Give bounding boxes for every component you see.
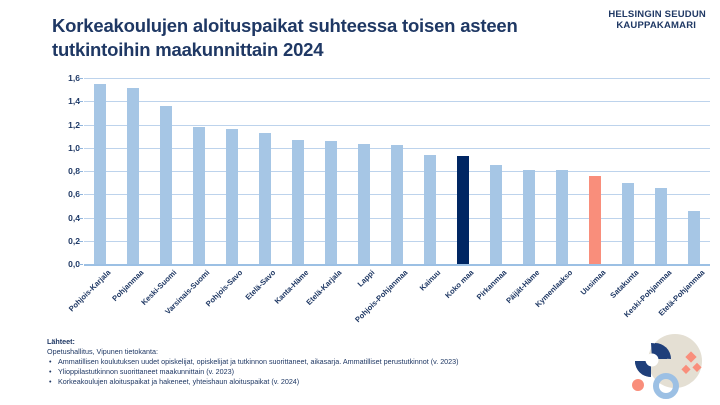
bar-keski-suomi[interactable]	[160, 106, 172, 264]
x-axis-label: Satakunta	[608, 268, 640, 300]
bar-koko-maa[interactable]	[457, 156, 469, 264]
bar-pohjanmaa[interactable]	[127, 88, 139, 264]
bar-kainuu[interactable]	[424, 155, 436, 264]
y-tick-mark	[78, 241, 83, 242]
bar-slot	[677, 78, 710, 264]
x-axis-label: Lappi	[356, 268, 377, 289]
bar-series	[84, 78, 710, 264]
y-tick-label: 0,0	[46, 259, 80, 269]
y-tick-mark	[78, 171, 83, 172]
x-axis-label: Kainuu	[418, 268, 443, 293]
y-tick-mark	[78, 264, 83, 265]
bar-pohjois-karjala[interactable]	[94, 84, 106, 264]
bar-slot	[84, 78, 117, 264]
bar-etelä-pohjanmaa[interactable]	[688, 211, 700, 264]
sources-subtitle: Opetushallitus, Vipunen tietokanta:	[47, 347, 567, 356]
bar-pohjois-savo[interactable]	[226, 129, 238, 264]
bar-slot	[315, 78, 348, 264]
y-tick-label: 1,2	[46, 120, 80, 130]
decorative-logo-mark	[618, 331, 714, 401]
bar-etelä-savo[interactable]	[259, 133, 271, 264]
x-axis-label: Etelä-Savo	[244, 268, 278, 302]
sources-title: Lähteet:	[47, 337, 567, 346]
bar-slot	[413, 78, 446, 264]
source-bullet: Korkeakoulujen aloituspaikat ja hakeneet…	[47, 377, 567, 387]
bar-slot	[545, 78, 578, 264]
header: Korkeakoulujen aloituspaikat suhteessa t…	[0, 0, 720, 70]
y-axis: 1,61,41,21,00,80,60,40,20,0	[46, 78, 80, 264]
chart-page: Korkeakoulujen aloituspaikat suhteessa t…	[0, 0, 720, 405]
y-tick-mark	[78, 78, 83, 79]
y-tick-mark	[78, 194, 83, 195]
bar-uusimaa[interactable]	[589, 176, 601, 264]
source-bullet: Ylioppilastutkinnon suorittaneet maakunn…	[47, 367, 567, 377]
y-tick-label: 0,2	[46, 236, 80, 246]
chart-plot-area: 1,61,41,21,00,80,60,40,20,0	[0, 78, 720, 268]
brand-logo: HELSINGIN SEUDUN KAUPPAKAMARI	[608, 10, 706, 32]
bar-slot	[348, 78, 381, 264]
bar-lappi[interactable]	[358, 144, 370, 264]
y-tick-label: 0,8	[46, 166, 80, 176]
bar-slot	[216, 78, 249, 264]
source-bullet: Ammatillisen koulutuksen uudet opiskelij…	[47, 357, 567, 367]
x-axis-label: Uusimaa	[578, 268, 607, 297]
x-axis-line	[84, 264, 710, 266]
bar-slot	[282, 78, 315, 264]
bar-slot	[578, 78, 611, 264]
y-tick-mark	[78, 125, 83, 126]
y-tick-label: 1,6	[46, 73, 80, 83]
bar-varsinais-suomi[interactable]	[193, 127, 205, 264]
bar-pohjois-pohjanmaa[interactable]	[391, 145, 403, 264]
x-axis-labels: Pohjois-KarjalaPohjanmaaKeski-SuomiVarsi…	[84, 268, 710, 334]
bar-pirkanmaa[interactable]	[490, 165, 502, 264]
footer-sources: Lähteet: Opetushallitus, Vipunen tietoka…	[47, 337, 567, 388]
bar-slot	[381, 78, 414, 264]
y-tick-mark	[78, 218, 83, 219]
bar-satakunta[interactable]	[622, 183, 634, 264]
y-tick-label: 0,4	[46, 213, 80, 223]
y-tick-label: 1,4	[46, 96, 80, 106]
bar-slot	[150, 78, 183, 264]
x-axis-label: Koko maa	[443, 268, 475, 300]
y-tick-label: 1,0	[46, 143, 80, 153]
bar-slot	[446, 78, 479, 264]
sources-list: Ammatillisen koulutuksen uudet opiskelij…	[47, 357, 567, 388]
x-axis-label: Pohjois-Karjala	[67, 268, 112, 313]
bar-slot	[479, 78, 512, 264]
brand-line-2: KAUPPAKAMARI	[608, 21, 706, 32]
bar-slot	[611, 78, 644, 264]
bar-etelä-karjala[interactable]	[325, 141, 337, 264]
bar-slot	[249, 78, 282, 264]
bar-slot	[644, 78, 677, 264]
bar-slot	[512, 78, 545, 264]
bar-kymenlaakso[interactable]	[556, 170, 568, 264]
bar-slot	[183, 78, 216, 264]
y-tick-label: 0,6	[46, 189, 80, 199]
bar-keski-pohjanmaa[interactable]	[655, 188, 667, 264]
page-title: Korkeakoulujen aloituspaikat suhteessa t…	[52, 14, 572, 61]
bar-päijät-häme[interactable]	[523, 170, 535, 264]
x-axis-label: Pirkanmaa	[475, 268, 509, 302]
bar-slot	[117, 78, 150, 264]
y-tick-mark	[78, 101, 83, 102]
y-tick-mark	[78, 148, 83, 149]
bar-kanta-häme[interactable]	[292, 140, 304, 264]
